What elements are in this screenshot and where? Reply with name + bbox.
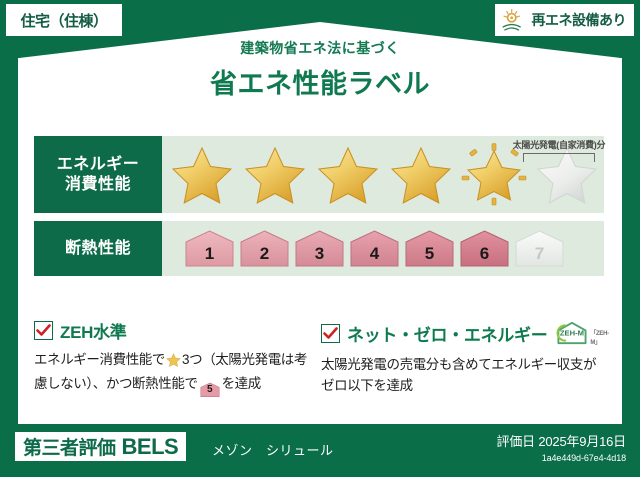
sun-icon (501, 8, 527, 32)
insulation-grade-2-value: 2 (260, 244, 269, 269)
insulation-grade-5: 5 (404, 229, 455, 269)
energy-performance-label: 住宅（住棟） 再エネ設備あり 建築物省エネ法に基づく 省 (0, 0, 640, 477)
insulation-grade-1-value: 1 (205, 244, 214, 269)
zeh-text-part1: エネルギー消費性能で (34, 352, 165, 367)
criterion-zeh-standard: ZEH水準 エネルギー消費性能で3つ（太陽光発電は考慮しない）、かつ断熱性能で5… (34, 318, 321, 397)
insulation-grade-4: 4 (349, 229, 400, 269)
inline-grade-badge: 5 (200, 381, 220, 397)
star-empty-6 (531, 140, 603, 210)
zeh-m-logo: ZEH-M 「ZEH-M」 (555, 318, 615, 348)
criteria-section: ZEH水準 エネルギー消費性能で3つ（太陽光発電は考慮しない）、かつ断熱性能で5… (34, 318, 608, 397)
energy-performance-stars-area: 太陽光発電(自家消費)分 (162, 136, 604, 213)
evaluation-date-value: 2025年9月16日 (538, 434, 626, 449)
criterion-net-zero-header: ネット・ゼロ・エネルギー ZEH-M 「ZEH-M」 (321, 318, 600, 348)
zeh-standard-checkbox[interactable] (34, 321, 53, 340)
zeh-standard-description: エネルギー消費性能で3つ（太陽光発電は考慮しない）、かつ断熱性能で5を達成 (34, 350, 313, 397)
check-icon (323, 327, 338, 340)
criterion-zeh-header: ZEH水準 (34, 318, 313, 343)
star-filled-1 (166, 140, 238, 210)
net-zero-title: ネット・ゼロ・エネルギー (347, 321, 547, 346)
performance-rows: エネルギー 消費性能 (34, 136, 604, 284)
zeh-standard-title: ZEH水準 (60, 318, 127, 343)
criterion-net-zero-energy: ネット・ゼロ・エネルギー ZEH-M 「ZEH-M」 太陽光発電の売電分も含めて… (321, 318, 608, 397)
energy-performance-row: エネルギー 消費性能 (34, 136, 604, 213)
page-title: 省エネ性能ラベル (0, 62, 640, 101)
category-tag: 住宅（住棟） (6, 4, 122, 36)
bels-badge-en-label: BELS (122, 434, 179, 460)
insulation-grade-6: 6 (459, 229, 510, 269)
star-icon (166, 353, 181, 374)
zeh-m-logo-caption: 「ZEH-M」 (590, 328, 615, 348)
insulation-grade-7-value: 7 (535, 244, 544, 269)
energy-performance-label: エネルギー 消費性能 (34, 136, 162, 213)
renewable-badge-label: 再エネ設備あり (532, 10, 627, 30)
title-block: 建築物省エネ法に基づく 省エネ性能ラベル (0, 38, 640, 101)
insulation-grade-7: 7 (514, 229, 565, 269)
star-filled-3 (312, 140, 384, 210)
insulation-grade-scale: 1 2 (184, 229, 565, 269)
bels-badge: 第三者評価 BELS (15, 432, 186, 461)
bels-badge-jp-label: 第三者評価 (23, 433, 116, 460)
net-zero-checkbox[interactable] (321, 324, 340, 343)
star-filled-2 (239, 140, 311, 210)
insulation-grade-3: 3 (294, 229, 345, 269)
star-filled-4 (385, 140, 457, 210)
insulation-grade-4-value: 4 (370, 244, 379, 269)
renewable-energy-badge: 再エネ設備あり (495, 4, 635, 36)
insulation-grade-6-value: 6 (480, 244, 489, 269)
insulation-performance-row: 断熱性能 1 (34, 221, 604, 276)
net-zero-description: 太陽光発電の売電分も含めてエネルギー収支がゼロ以下を達成 (321, 355, 600, 397)
svg-text:ZEH-M: ZEH-M (560, 329, 584, 338)
inline-grade-value: 5 (200, 381, 220, 399)
zeh-text-part3: を達成 (222, 376, 261, 391)
star-rating (166, 140, 603, 210)
insulation-performance-label: 断熱性能 (34, 221, 162, 276)
insulation-grade-5-value: 5 (425, 244, 434, 269)
evaluation-date: 評価日 2025年9月16日 (497, 431, 626, 450)
evaluation-date-label: 評価日 (497, 434, 535, 449)
evaluation-id: 1a4e449d-67e4-4d18 (497, 453, 626, 463)
insulation-grade-2: 2 (239, 229, 290, 269)
category-tag-label: 住宅（住棟） (20, 10, 107, 31)
building-name: メゾン シリュール (212, 440, 334, 459)
insulation-grade-3-value: 3 (315, 244, 324, 269)
check-icon (36, 324, 51, 337)
label-subtitle: 建築物省エネ法に基づく (0, 38, 640, 58)
evaluation-info: 評価日 2025年9月16日 1a4e449d-67e4-4d18 (497, 431, 626, 463)
insulation-grade-area: 1 2 (162, 221, 604, 276)
star-filled-solar-5 (458, 140, 530, 210)
insulation-grade-1: 1 (184, 229, 235, 269)
bottom-bar: 第三者評価 BELS メゾン シリュール 評価日 2025年9月16日 1a4e… (0, 424, 640, 477)
